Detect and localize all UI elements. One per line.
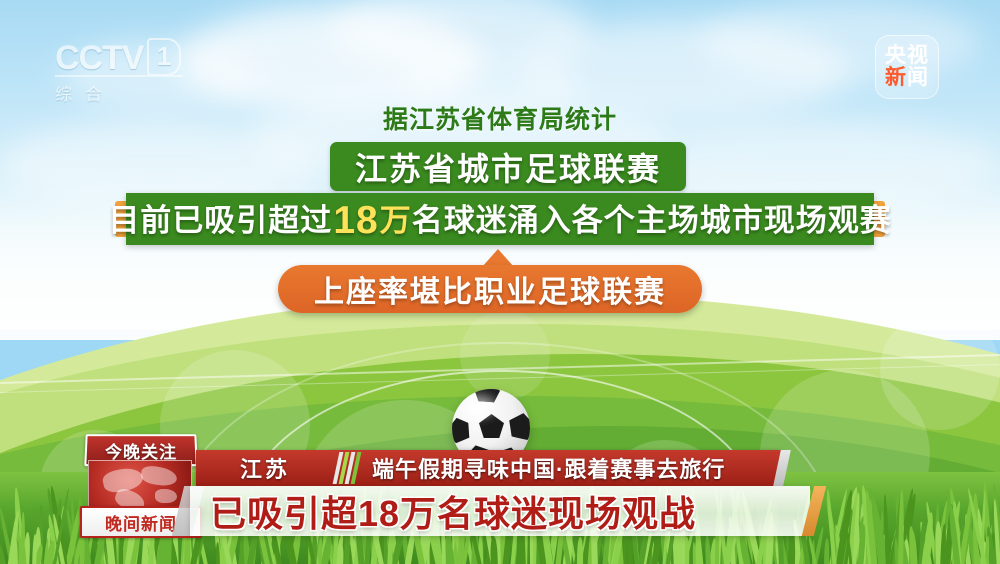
stat-prefix: 目前已吸引超过 bbox=[108, 203, 332, 238]
globe-landmass bbox=[155, 489, 177, 503]
cctv-letters: CCTV bbox=[55, 39, 144, 77]
headline-text: 已吸引超18万名球迷现场观战 bbox=[210, 485, 696, 537]
grass-blade bbox=[824, 538, 830, 564]
grass-blade bbox=[704, 535, 710, 564]
league-name-banner: 江苏省城市足球联赛 bbox=[330, 142, 686, 191]
broadcast-frame: CCTV1 综合 央视 新闻 据江苏省体育局统计 江苏省城市足球联赛 目前已吸引… bbox=[0, 0, 1000, 564]
source-kicker: 据江苏省体育局统计 bbox=[0, 100, 1000, 136]
globe-landmass bbox=[140, 465, 178, 488]
topic-label: 端午假期寻味中国·跟着赛事去旅行 bbox=[372, 452, 725, 484]
statistic-text: 目前已吸引超过18万名球迷涌入各个主场城市现场观赛 bbox=[108, 195, 891, 243]
program-logo-bottom-text: 晚间新闻 bbox=[105, 510, 177, 535]
stat-suffix: 名球迷涌入各个主场城市现场观赛 bbox=[412, 203, 892, 238]
stat-number: 18 bbox=[332, 199, 379, 242]
ball-panel bbox=[504, 409, 530, 442]
news-logo-line2: 新闻 bbox=[885, 67, 929, 89]
attendance-pill-text: 上座率堪比职业足球联赛 bbox=[314, 267, 666, 311]
news-logo-xin: 新 bbox=[885, 66, 907, 89]
statistic-banner: 目前已吸引超过18万名球迷涌入各个主场城市现场观赛 bbox=[126, 193, 874, 245]
cctv-news-logo: 央视 新闻 bbox=[875, 35, 939, 99]
league-name-text: 江苏省城市足球联赛 bbox=[355, 144, 661, 190]
separator-stripes bbox=[333, 452, 362, 484]
attendance-pill: 上座率堪比职业足球联赛 bbox=[278, 265, 702, 313]
news-logo-line1: 央视 bbox=[885, 45, 929, 67]
location-label: 江苏 bbox=[240, 452, 290, 484]
program-logo-top-text: 今晚关注 bbox=[105, 438, 178, 463]
ball-panel bbox=[452, 415, 473, 445]
stat-unit: 万 bbox=[380, 203, 412, 238]
cctv-channel-number: 1 bbox=[147, 38, 181, 76]
topic-bar: 江苏 端午假期寻味中国·跟着赛事去旅行 bbox=[196, 450, 781, 486]
bokeh-circle bbox=[880, 310, 1000, 430]
ball-panel bbox=[479, 414, 504, 438]
cctv-wordmark: CCTV1 bbox=[55, 38, 215, 77]
headline-bar: 已吸引超18万名球迷现场观战 bbox=[190, 486, 810, 536]
grass-blade bbox=[577, 537, 583, 564]
news-logo-wen: 闻 bbox=[907, 66, 929, 89]
ball-highlight bbox=[462, 395, 496, 417]
